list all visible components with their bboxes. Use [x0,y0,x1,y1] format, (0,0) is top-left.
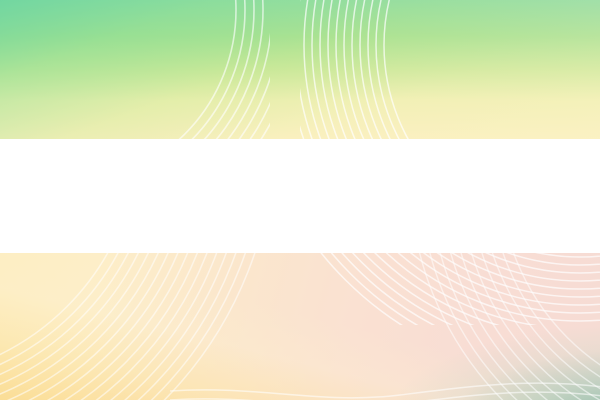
background-teal-tint [270,290,600,400]
background-top-gradient [0,0,600,139]
banner-headline: 股票操盘软件哪个好 线上配资怎么斥地客户平台测 评叙述：真实反馈+优劣解读_2 [0,150,600,232]
headline-line-2: 评叙述：真实反馈+优劣解读_2 [0,191,600,232]
banner-canvas: 股票操盘软件哪个好 线上配资怎么斥地客户平台测 评叙述：真实反馈+优劣解读_2 [0,0,600,400]
headline-line-1: 股票操盘软件哪个好 线上配资怎么斥地客户平台测 [0,150,600,191]
